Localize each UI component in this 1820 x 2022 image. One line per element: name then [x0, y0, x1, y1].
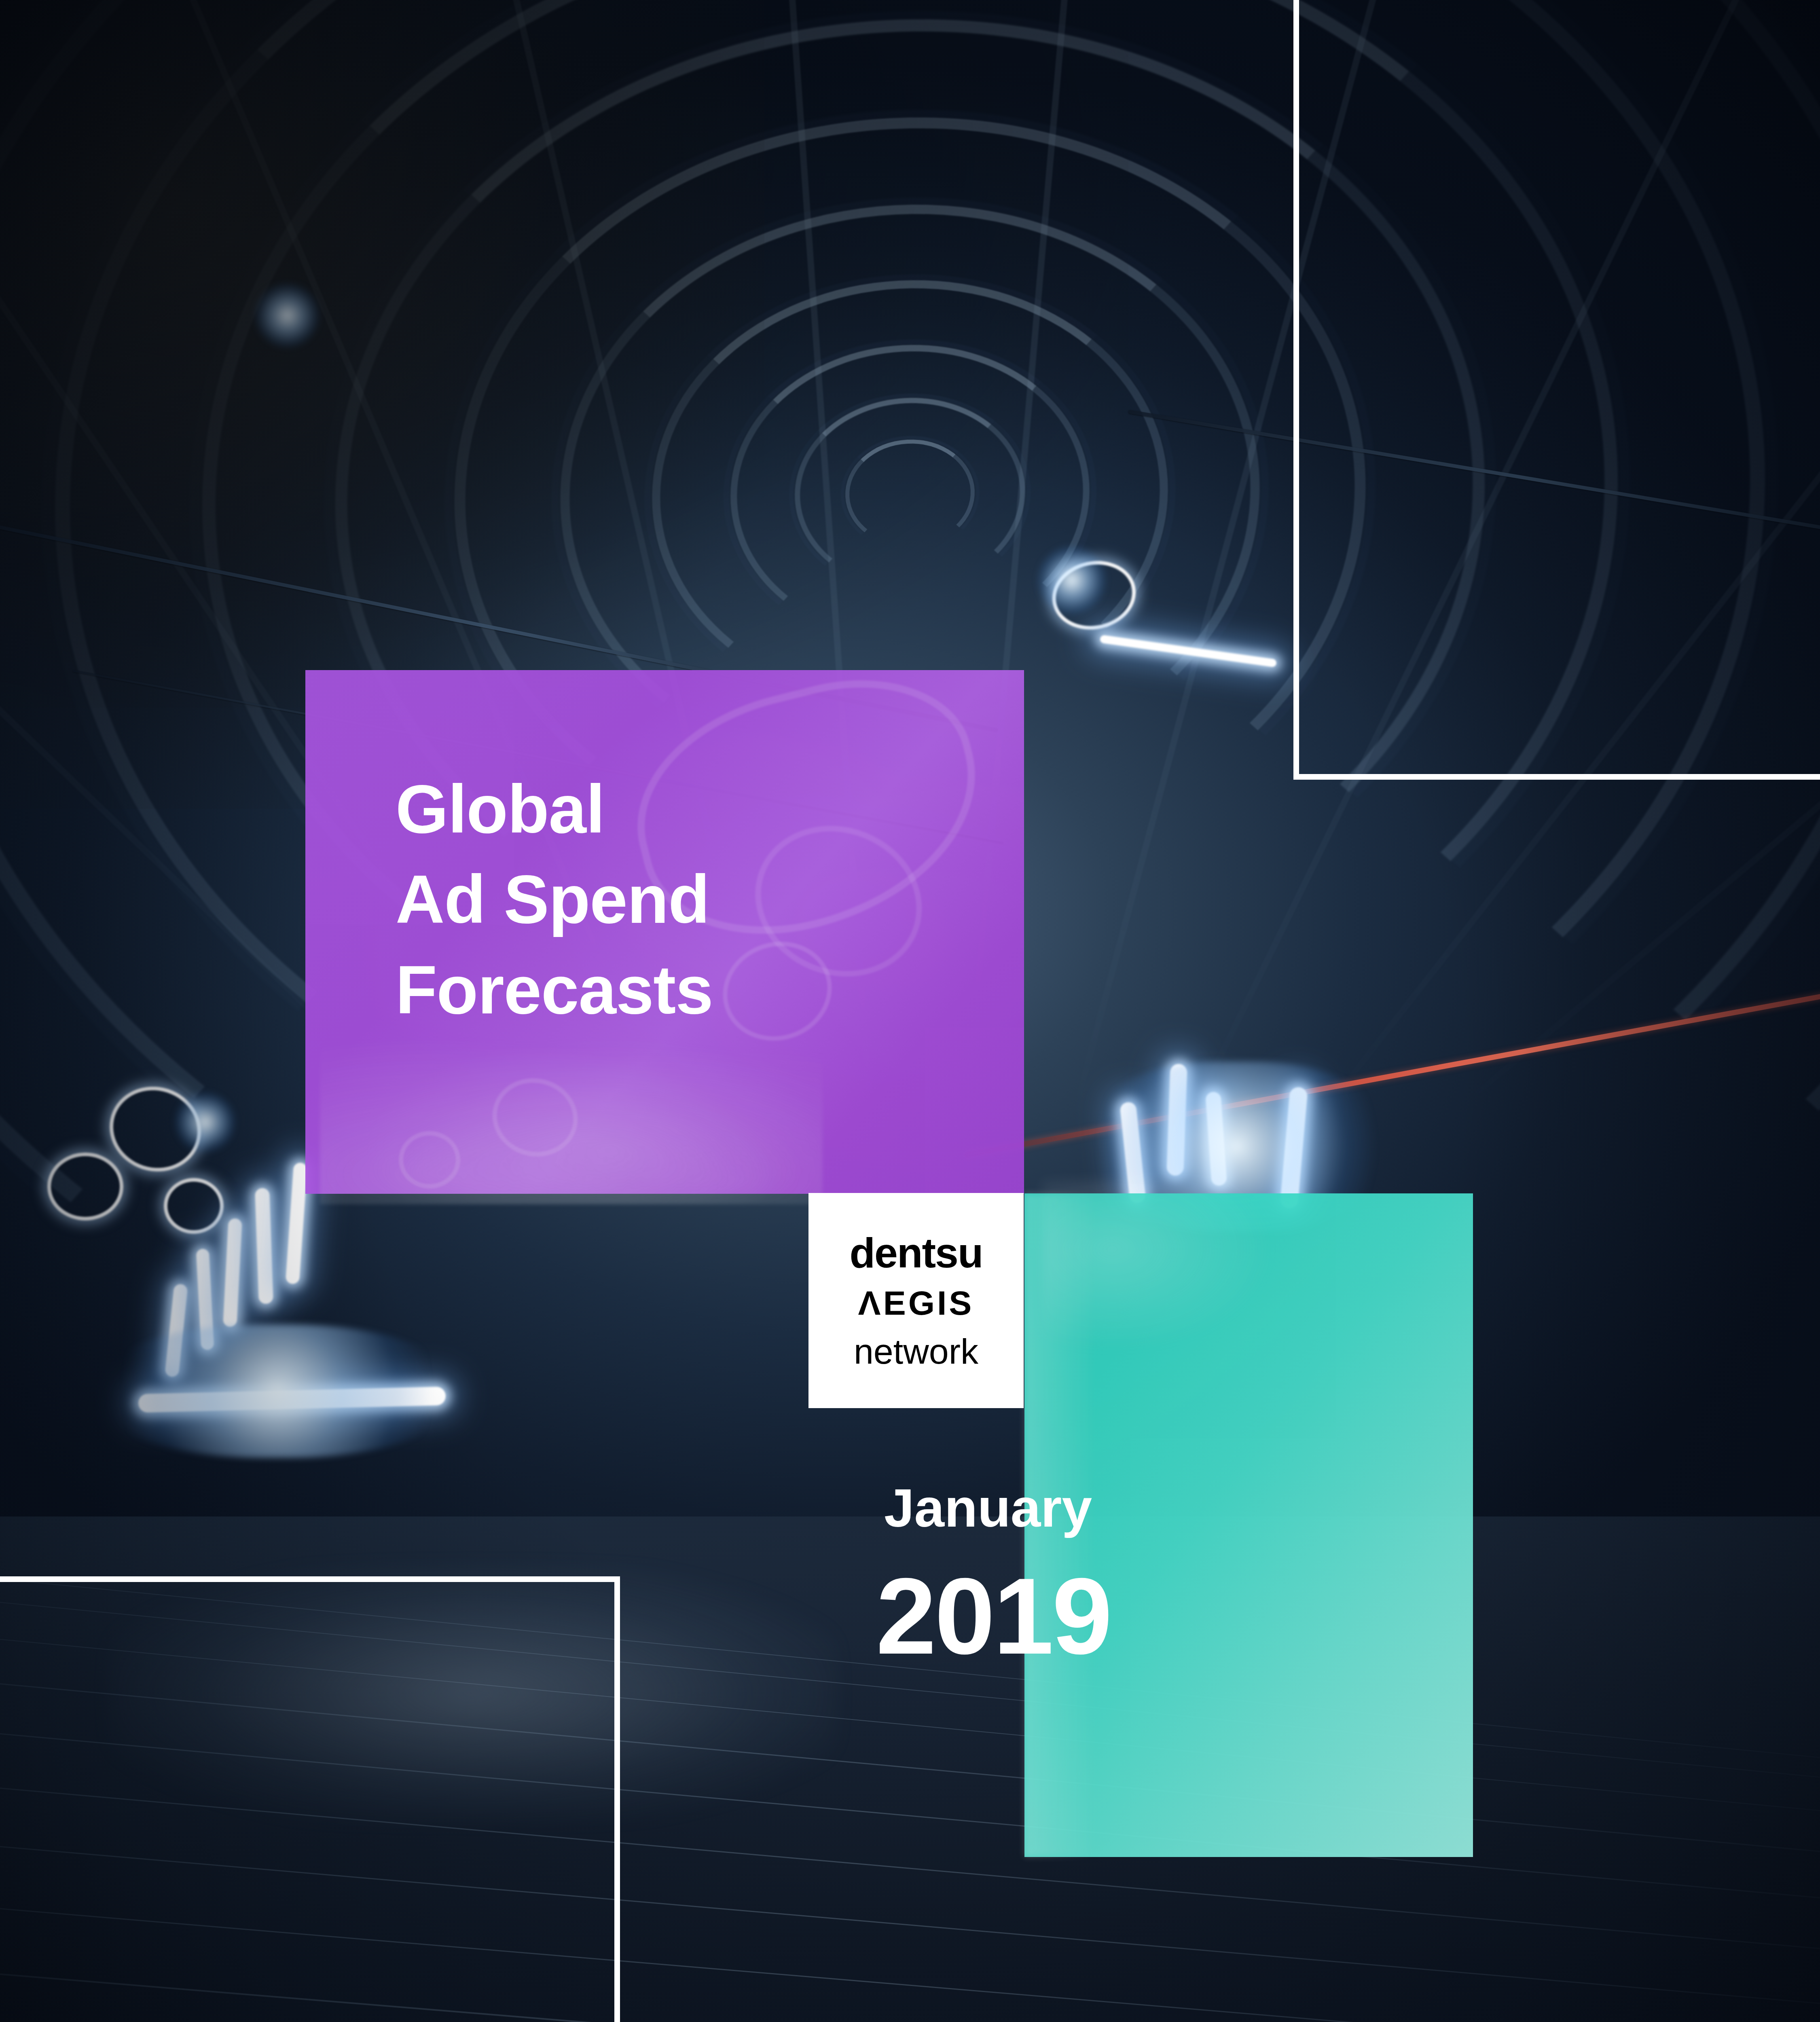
dentsu-aegis-network-logo: dentsu ΛEGIS network	[808, 1193, 1024, 1408]
teal-light-streak	[1042, 1180, 1276, 1353]
frame-topright-vertical	[1293, 0, 1299, 780]
report-cover-page: Global Ad Spend Forecasts dentsu ΛEGIS n…	[0, 0, 1820, 2022]
logo-line-dentsu: dentsu	[850, 1231, 983, 1275]
cover-date-year: 2019	[876, 1562, 1111, 1670]
purple-lighttrail-c	[320, 1016, 823, 1204]
cover-date-month: January	[884, 1481, 1092, 1535]
logo-line-network: network	[854, 1333, 978, 1370]
frame-bottomleft-horizontal	[0, 1576, 620, 1582]
frame-bottomleft-vertical	[614, 1576, 620, 2022]
logo-line-aegis: ΛEGIS	[858, 1286, 974, 1321]
cover-title: Global Ad Spend Forecasts	[396, 764, 713, 1035]
frame-topright-horizontal	[1293, 774, 1820, 780]
